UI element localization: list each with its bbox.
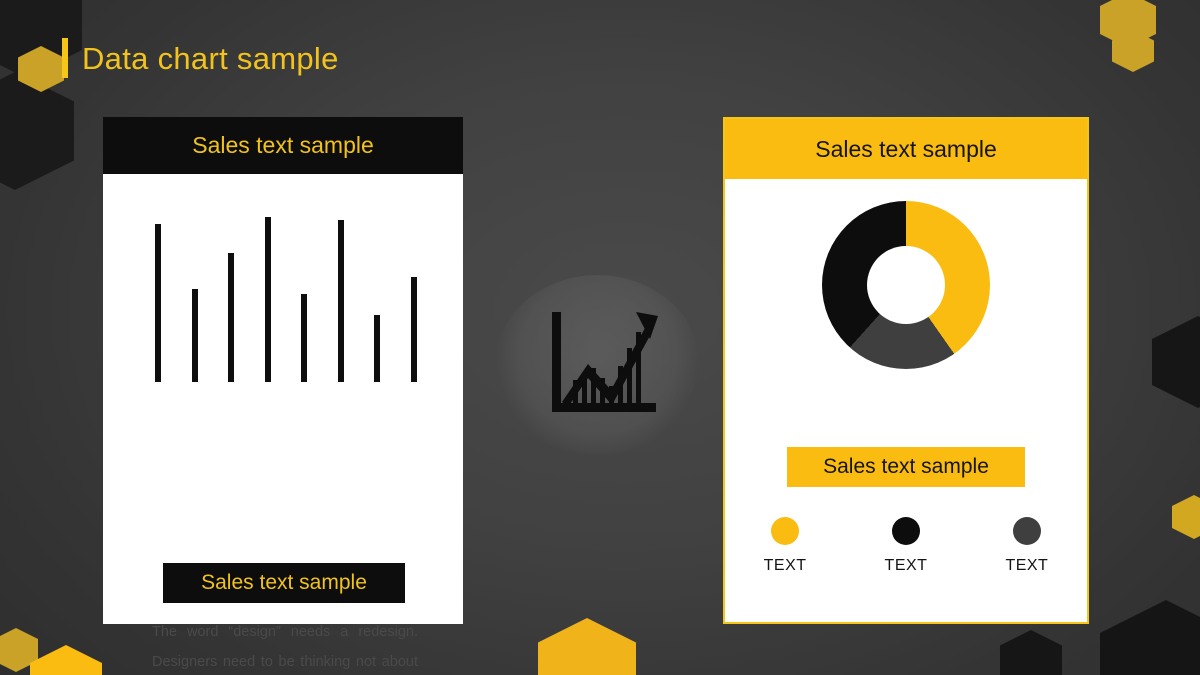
right-card-label-text: Sales text sample [823,455,989,479]
bar-8 [411,277,417,382]
hexagon-black-br-1 [1000,630,1062,675]
legend-item-2[interactable]: TEXT [885,517,928,575]
slide-canvas: Data chart sample Sales text sample Sale… [0,0,1200,675]
legend-item-3[interactable]: TEXT [1005,517,1048,575]
legend-label: TEXT [764,557,807,575]
title-accent-bar [62,38,68,78]
bar-chart-plot [155,217,417,382]
hexagon-yellow-bc [538,618,636,675]
bar-1 [155,224,161,382]
right-card: Sales text sample Sales text sample TEXT… [723,117,1089,624]
legend-item-1[interactable]: TEXT [764,517,807,575]
hexagon-gold-tl [18,46,64,92]
right-card-header: Sales text sample [725,119,1087,179]
donut-legend: TEXTTEXTTEXT [725,517,1087,575]
donut-chart-ring [822,201,990,369]
donut-chart-hole [867,246,945,324]
legend-label: TEXT [1005,557,1048,575]
left-card-paragraph: The word “design” needs a redesign. Desi… [152,617,418,675]
left-card-label-text: Sales text sample [201,571,367,595]
hexagon-yellow-bl-2 [30,645,102,675]
right-card-header-text: Sales text sample [815,136,997,163]
page-title: Data chart sample [62,38,339,78]
bar-2 [192,289,198,382]
chart-growth-icon [495,275,700,455]
left-card-header: Sales text sample [103,117,463,174]
legend-dot-icon [892,517,920,545]
bar-7 [374,315,380,382]
left-card-header-text: Sales text sample [192,132,374,159]
page-title-text: Data chart sample [82,43,339,74]
bar-3 [228,253,234,382]
donut-chart [725,179,1087,424]
hexagon-black-br-2 [1100,600,1200,675]
legend-label: TEXT [885,557,928,575]
hexagon-gold-mr [1172,495,1200,539]
bar-chart [103,174,463,414]
bar-4 [265,217,271,382]
hexagon-black-mr [1152,316,1200,408]
legend-dot-icon [771,517,799,545]
left-card-label: Sales text sample [163,563,405,603]
left-card: Sales text sample Sales text sample The … [103,117,463,624]
bar-5 [301,294,307,382]
hexagon-gold-tr-2 [1112,30,1154,72]
legend-dot-icon [1013,517,1041,545]
right-card-label: Sales text sample [787,447,1025,487]
bar-6 [338,220,344,382]
